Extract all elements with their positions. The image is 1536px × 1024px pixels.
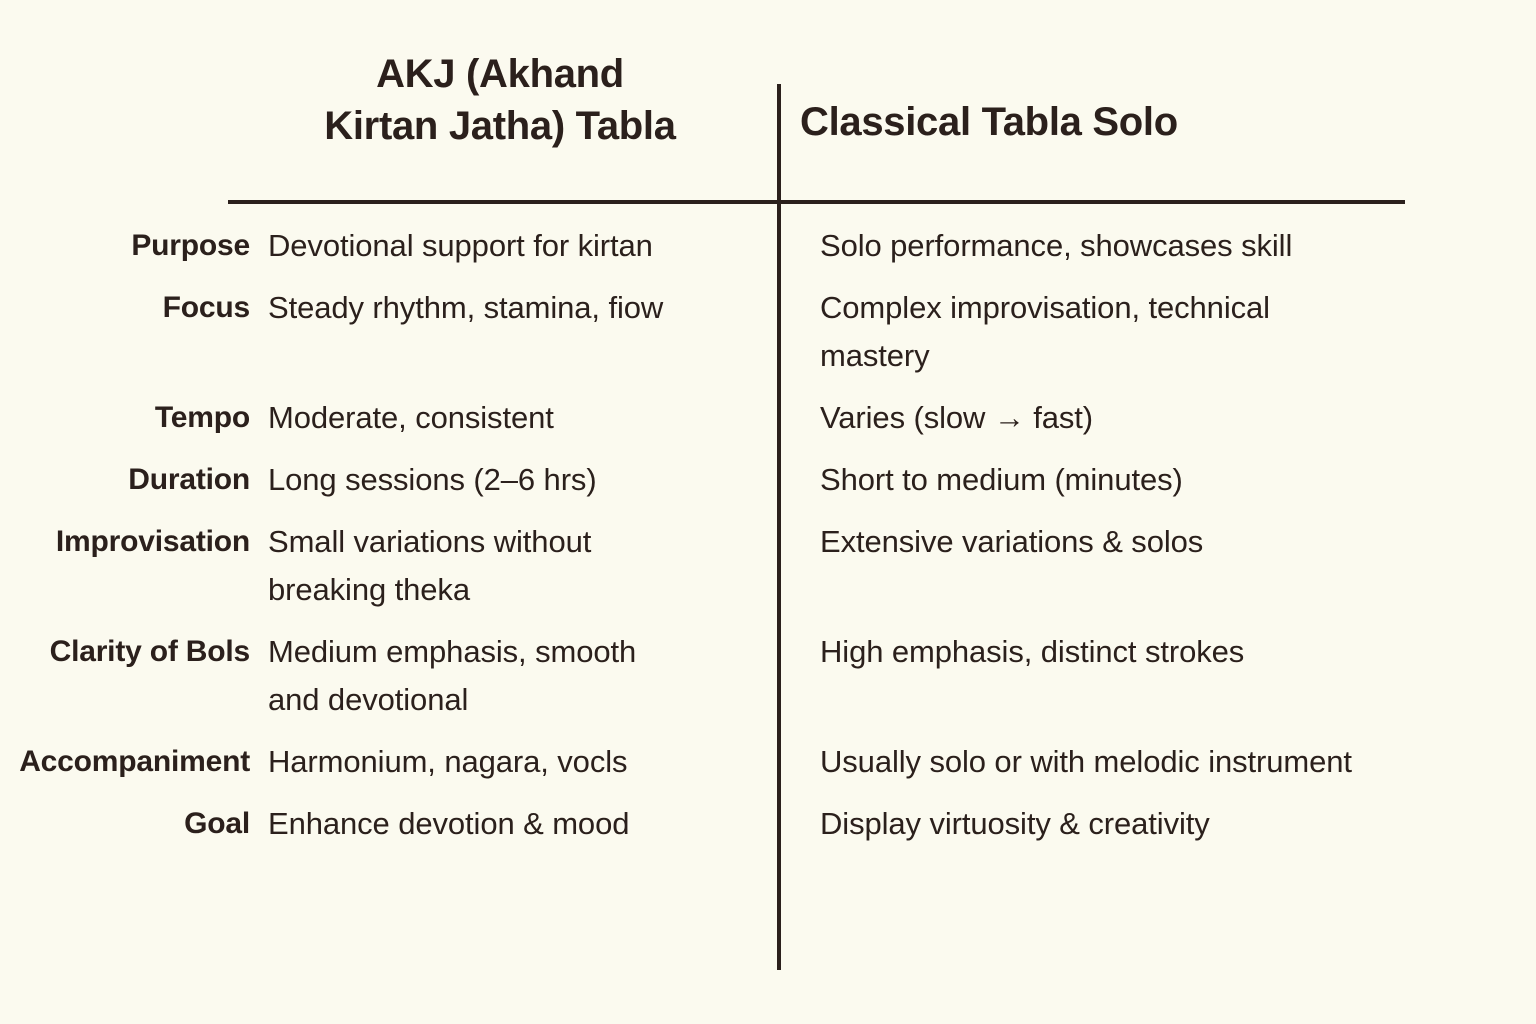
table-row: Accompaniment Harmonium, nagara, vocls U… — [0, 738, 1536, 786]
row-value-line: and devotional — [268, 676, 764, 724]
table-row: Clarity of Bols Medium emphasis, smooth … — [0, 628, 1536, 724]
row-value-line: Complex improvisation, technical — [820, 284, 1536, 332]
column-header-akj-tabla-line2: Kirtan Jatha) Tabla — [240, 100, 760, 152]
row-value-line: Short to medium (minutes) — [820, 456, 1536, 504]
row-value-line: Moderate, consistent — [268, 394, 764, 442]
row-value-classical-goal: Display virtuosity & creativity — [777, 800, 1536, 848]
row-value-line: Devotional support for kirtan — [268, 222, 764, 270]
column-header-akj-tabla-line1: AKJ (Akhand — [376, 52, 624, 96]
row-label-duration: Duration — [0, 456, 252, 504]
row-value-line: Varies (slow → fast) — [820, 394, 1536, 442]
row-value-line: Solo performance, showcases skill — [820, 222, 1536, 270]
row-value-classical-focus: Complex improvisation, technical mastery — [777, 284, 1536, 380]
row-value-akj-improvisation: Small variations without breaking theka — [252, 518, 764, 614]
row-value-akj-tempo: Moderate, consistent — [252, 394, 764, 442]
row-label-focus: Focus — [0, 284, 252, 332]
table-row: Purpose Devotional support for kirtan So… — [0, 222, 1536, 270]
row-value-classical-duration: Short to medium (minutes) — [777, 456, 1536, 504]
row-value-line: Long sessions (2–6 hrs) — [268, 456, 764, 504]
header-underline-rule — [228, 200, 1405, 204]
row-value-line: breaking theka — [268, 566, 764, 614]
row-value-line: Medium emphasis, smooth — [268, 628, 764, 676]
row-value-classical-purpose: Solo performance, showcases skill — [777, 222, 1536, 270]
row-value-akj-goal: Enhance devotion & mood — [252, 800, 764, 848]
row-label-tempo: Tempo — [0, 394, 252, 442]
table-row: Improvisation Small variations without b… — [0, 518, 1536, 614]
row-label-improvisation: Improvisation — [0, 518, 252, 566]
row-value-line: Display virtuosity & creativity — [820, 800, 1536, 848]
row-value-classical-improvisation: Extensive variations & solos — [777, 518, 1536, 566]
row-value-akj-purpose: Devotional support for kirtan — [252, 222, 764, 270]
row-value-akj-clarity-of-bols: Medium emphasis, smooth and devotional — [252, 628, 764, 724]
row-value-line: Steady rhythm, stamina, fiow — [268, 284, 764, 332]
row-value-line: Usually solo or with melodic instrument — [820, 738, 1536, 786]
row-value-akj-duration: Long sessions (2–6 hrs) — [252, 456, 764, 504]
table-row: Duration Long sessions (2–6 hrs) Short t… — [0, 456, 1536, 504]
row-value-line: mastery — [820, 332, 1536, 380]
row-value-line: Enhance devotion & mood — [268, 800, 764, 848]
row-value-line: Small variations without — [268, 518, 764, 566]
row-value-classical-tempo: Varies (slow → fast) — [777, 394, 1536, 442]
row-value-line: High emphasis, distinct strokes — [820, 628, 1536, 676]
row-value-akj-accompaniment: Harmonium, nagara, vocls — [252, 738, 764, 786]
column-header-akj-tabla: AKJ (Akhand Kirtan Jatha) Tabla — [240, 48, 760, 152]
row-value-akj-focus: Steady rhythm, stamina, fiow — [252, 284, 764, 332]
column-header-classical-tabla-solo: Classical Tabla Solo — [800, 96, 1500, 148]
row-label-clarity-of-bols: Clarity of Bols — [0, 628, 252, 676]
column-header-classical-tabla-solo-label: Classical Tabla Solo — [800, 100, 1178, 144]
table-row: Tempo Moderate, consistent Varies (slow … — [0, 394, 1536, 442]
comparison-rows: Purpose Devotional support for kirtan So… — [0, 222, 1536, 862]
table-row: Goal Enhance devotion & mood Display vir… — [0, 800, 1536, 848]
row-value-classical-clarity-of-bols: High emphasis, distinct strokes — [777, 628, 1536, 676]
row-value-line: Harmonium, nagara, vocls — [268, 738, 764, 786]
comparison-table-sheet: AKJ (Akhand Kirtan Jatha) Tabla Classica… — [0, 0, 1536, 1024]
row-label-purpose: Purpose — [0, 222, 252, 270]
table-row: Focus Steady rhythm, stamina, fiow Compl… — [0, 284, 1536, 380]
row-value-classical-accompaniment: Usually solo or with melodic instrument — [777, 738, 1536, 786]
row-label-goal: Goal — [0, 800, 252, 848]
row-value-line: Extensive variations & solos — [820, 518, 1536, 566]
row-label-accompaniment: Accompaniment — [0, 738, 252, 786]
